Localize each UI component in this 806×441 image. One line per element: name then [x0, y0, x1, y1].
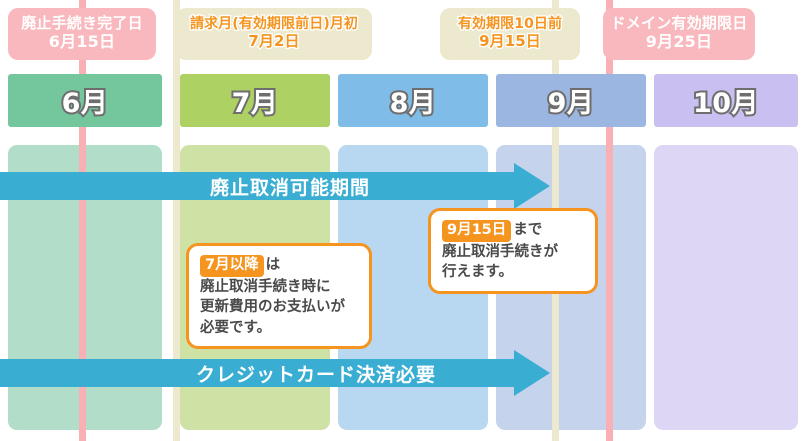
tag-expiry-10days: 有効期限10日前9月15日: [440, 8, 580, 60]
callout-july-onward-fee-line-2: 更新費用のお支払いが: [200, 297, 358, 318]
callout-deadline-sep15-line-1: 廃止取消手続きが: [442, 242, 584, 263]
tag-domain-expiry-date: 9月25日: [646, 33, 712, 52]
callout-july-onward-fee-line-1: 廃止取消手続き時に: [200, 277, 358, 298]
tag-expiry-10days-date: 9月15日: [479, 33, 541, 51]
month-august-label: 8月: [390, 81, 437, 120]
month-june-header: 6月: [8, 74, 162, 127]
callout-july-onward-fee-highlight-0: 7月以降: [200, 255, 264, 277]
arrow-cancellable-period: 廃止取消可能期間: [0, 163, 550, 209]
tag-domain-expiry-title: ドメイン有効期限日: [611, 15, 748, 33]
tag-domain-expiry: ドメイン有効期限日9月25日: [603, 8, 755, 60]
callout-deadline-sep15-text-2: 行えます。: [442, 264, 513, 280]
arrow-credit-card-required-head-icon: [514, 350, 550, 396]
month-september-header: 9月: [496, 74, 646, 127]
callout-july-onward-fee-text-1: 廃止取消手続き時に: [200, 279, 331, 295]
month-july-label: 7月: [232, 81, 279, 120]
callout-deadline-sep15-text-1: 廃止取消手続きが: [442, 244, 558, 260]
callout-deadline-sep15-text-0: まで: [513, 222, 542, 238]
tag-cancel-complete: 廃止手続き完了日6月15日: [8, 8, 156, 60]
timeline-diagram: 6月7月8月9月10月 廃止手続き完了日6月15日請求月(有効期限前日)月初7月…: [0, 0, 806, 441]
arrow-cancellable-period-head-icon: [514, 163, 550, 209]
callout-july-onward-fee-line-0: 7月以降は: [200, 255, 358, 277]
callout-july-onward-fee: 7月以降は廃止取消手続き時に更新費用のお支払いが必要です。: [186, 243, 372, 349]
callout-july-onward-fee-text-3: 必要です。: [200, 320, 271, 336]
month-july-header: 7月: [180, 74, 330, 127]
callout-deadline-sep15-line-2: 行えます。: [442, 262, 584, 283]
month-october-label: 10月: [693, 81, 759, 120]
tag-cancel-complete-title: 廃止手続き完了日: [21, 15, 143, 33]
month-june-label: 6月: [62, 81, 109, 120]
tag-expiry-10days-title: 有効期限10日前: [458, 16, 562, 33]
month-october-header: 10月: [654, 74, 798, 127]
tag-cancel-complete-date: 6月15日: [49, 33, 115, 52]
tag-billing-month: 請求月(有効期限前日)月初7月2日: [176, 8, 372, 60]
callout-july-onward-fee-text-2: 更新費用のお支払いが: [200, 299, 345, 315]
callout-july-onward-fee-line-3: 必要です。: [200, 318, 358, 339]
tag-billing-month-date: 7月2日: [248, 33, 299, 51]
tag-billing-month-title: 請求月(有効期限前日)月初: [190, 16, 358, 33]
arrow-credit-card-required: クレジットカード決済必要: [0, 350, 550, 396]
month-august-header: 8月: [338, 74, 488, 127]
callout-deadline-sep15-line-0: 9月15日まで: [442, 220, 584, 242]
callout-deadline-sep15-highlight-0: 9月15日: [442, 220, 511, 242]
month-october-body: [654, 145, 798, 430]
vline-sep25: [606, 0, 613, 441]
arrow-credit-card-required-label: クレジットカード決済必要: [196, 360, 436, 387]
arrow-cancellable-period-label: 廃止取消可能期間: [210, 173, 370, 200]
callout-july-onward-fee-text-0: は: [266, 257, 281, 273]
callout-deadline-sep15: 9月15日まで廃止取消手続きが行えます。: [428, 208, 598, 294]
month-september-label: 9月: [548, 81, 595, 120]
